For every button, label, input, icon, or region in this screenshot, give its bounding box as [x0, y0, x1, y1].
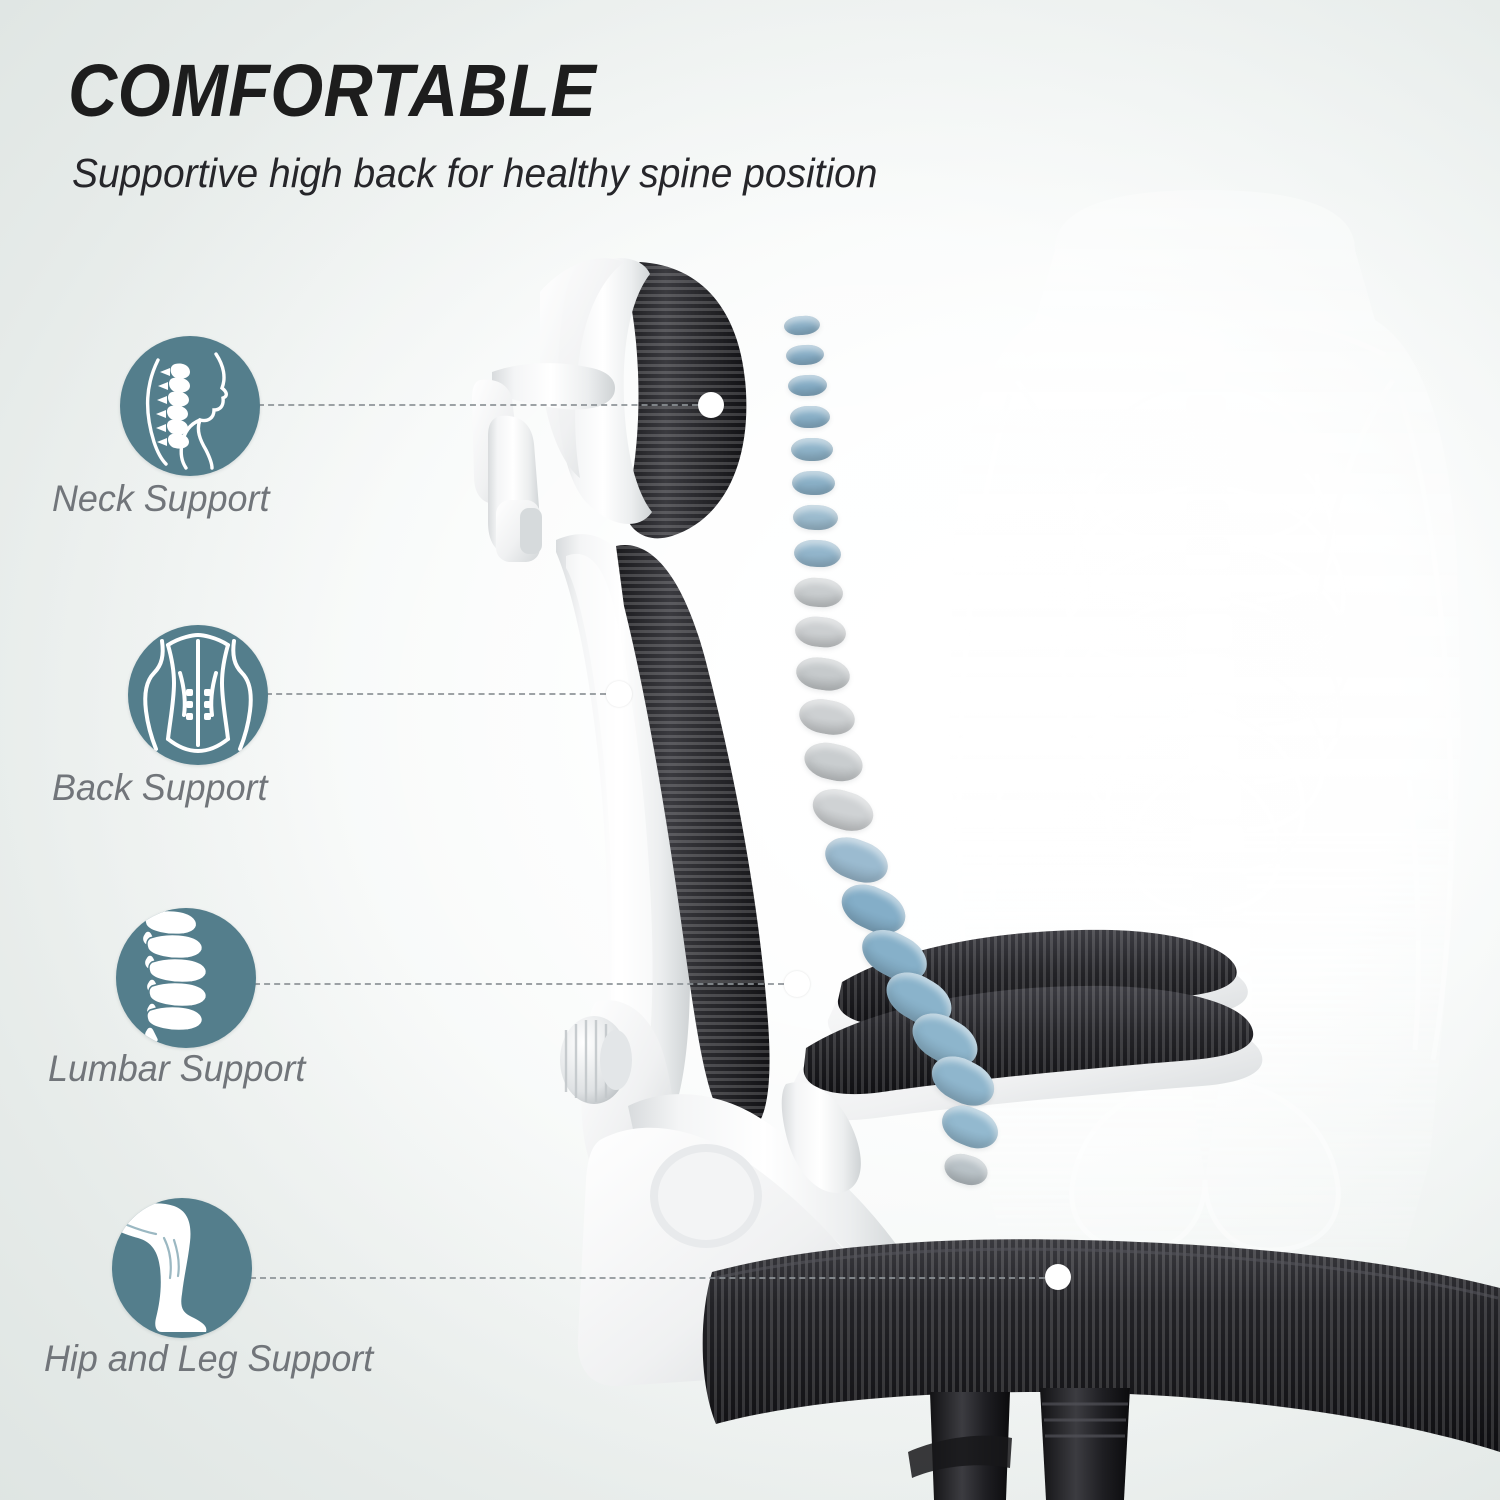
back-support-badge[interactable]: [128, 625, 268, 765]
vertebra-block: [794, 614, 848, 649]
headrest-stem: [472, 363, 615, 562]
chair-base: [908, 1388, 1130, 1500]
vertebra-block: [793, 504, 839, 531]
neck-support-label: Neck Support: [52, 478, 269, 520]
leader-line-neck-support: [258, 404, 698, 406]
page-title: COMFORTABLE: [68, 48, 596, 133]
armrest-near: [782, 986, 1263, 1193]
vertebra-block: [796, 695, 857, 738]
vertebra-block: [801, 738, 867, 786]
backrest-mesh: [616, 545, 770, 1132]
hip-leg-support-badge[interactable]: [112, 1198, 252, 1338]
vertebra-block: [794, 654, 852, 693]
neck-support-badge[interactable]: [120, 336, 260, 476]
anchor-dot-back-support: [606, 681, 632, 707]
infographic-canvas: COMFORTABLE Supportive high back for hea…: [0, 0, 1500, 1500]
backrest-frame: [556, 534, 690, 1149]
leader-line-back-support: [266, 693, 606, 695]
seat-pivot-cap: [650, 1144, 762, 1248]
lumbar-vertebrae-icon: [116, 908, 256, 1048]
skeleton-watermark: [905, 180, 1500, 1260]
leader-line-lumbar-support: [254, 983, 784, 985]
back-torso-icon: [128, 625, 268, 765]
lumbar-support-label: Lumbar Support: [48, 1048, 305, 1090]
vertebra-block: [793, 539, 841, 568]
vertebra-block: [792, 471, 835, 496]
tension-knob: [560, 1016, 628, 1104]
tilt-mechanism: [560, 1000, 673, 1194]
vertebra-block: [793, 576, 844, 608]
seat-cushion: [703, 1239, 1500, 1452]
vertebra-block: [819, 830, 894, 891]
lumbar-support-badge[interactable]: [116, 908, 256, 1048]
leader-line-hip-leg-support: [250, 1277, 1045, 1279]
back-support-label: Back Support: [52, 767, 267, 809]
anchor-dot-lumbar-support: [784, 971, 810, 997]
vertebra-block: [790, 406, 830, 429]
neck-spine-icon: [120, 336, 260, 476]
vertebra-block: [808, 783, 878, 837]
vertebra-block: [791, 438, 833, 461]
hip-leg-support-label: Hip and Leg Support: [44, 1338, 373, 1380]
vertebra-block: [941, 1149, 991, 1189]
anchor-dot-hip-leg-support: [1045, 1264, 1071, 1290]
bent-leg-icon: [112, 1198, 252, 1338]
vertebra-block: [786, 344, 825, 366]
vertebra-block: [936, 1099, 1004, 1156]
vertebra-block: [783, 315, 820, 336]
page-subtitle: Supportive high back for healthy spine p…: [72, 150, 877, 197]
vertebra-block: [788, 374, 828, 396]
seat-frame: [578, 1094, 912, 1386]
anchor-dot-neck-support: [698, 392, 724, 418]
